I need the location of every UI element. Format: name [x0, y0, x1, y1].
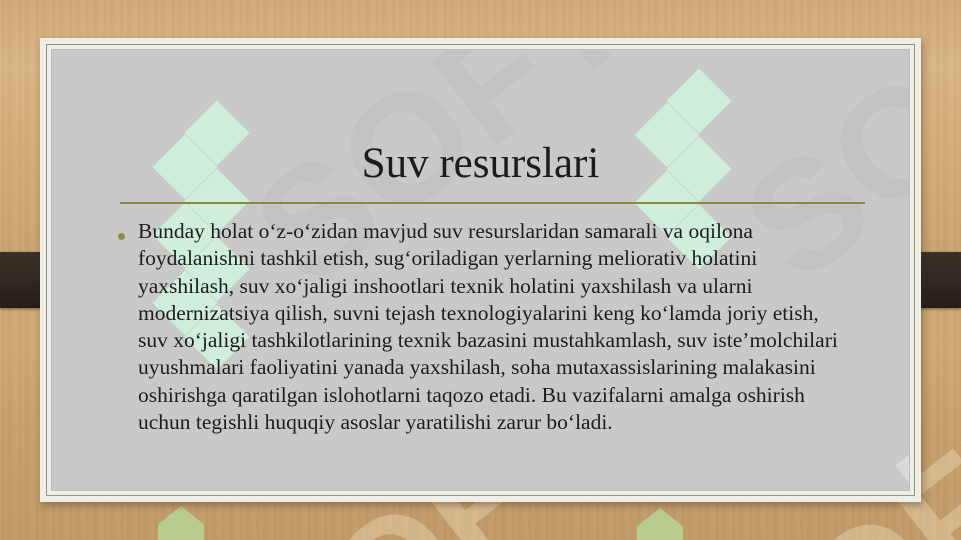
slide-frame-border: SOFT SOFT SOFT Suv resurslari Bunday hol…	[46, 44, 915, 496]
pentagon-accent-left	[158, 506, 204, 540]
page-title: Suv resurslari	[52, 140, 909, 187]
bullet-point-icon	[118, 233, 125, 240]
slide-canvas: SOFT SOFT SOFT Suv resurslari Bunday hol…	[51, 49, 910, 491]
bullet-list-item: Bunday holat o‘z-o‘zidan mavjud suv resu…	[118, 218, 865, 436]
pentagon-accent-right	[637, 508, 683, 540]
body-paragraph: Bunday holat o‘z-o‘zidan mavjud suv resu…	[138, 218, 838, 436]
slide-frame-outer: SOFT SOFT SOFT Suv resurslari Bunday hol…	[40, 38, 921, 502]
title-divider	[120, 202, 865, 204]
slide-stage: SOFT SOFT	[0, 0, 961, 540]
